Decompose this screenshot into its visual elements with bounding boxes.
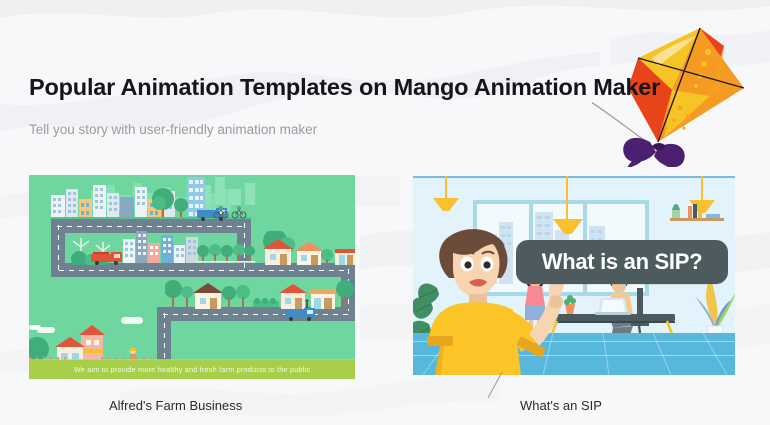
blue-truck — [285, 307, 317, 321]
house-row-middle — [261, 231, 355, 265]
thumbnail-banner-text: We aim to provide more healthy and fresh… — [29, 360, 355, 379]
page-subtitle: Tell you story with user-friendly animat… — [29, 122, 317, 137]
city-row-middle — [123, 229, 199, 263]
template-thumbnail-alfreds-farm-business[interactable]: We aim to provide more healthy and fresh… — [29, 175, 355, 379]
lamp-cord-2 — [566, 176, 568, 219]
lamp-cord-3 — [701, 176, 703, 200]
road-dash-middle — [59, 270, 347, 271]
tree-row-middle — [197, 239, 255, 265]
tree-group-top — [149, 185, 189, 219]
template-caption-whats-an-sip: What's an SIP — [520, 398, 602, 413]
template-caption-alfreds-farm-business: Alfred's Farm Business — [109, 398, 242, 413]
page-title: Popular Animation Templates on Mango Ani… — [29, 74, 660, 101]
road-dash-lower — [163, 314, 351, 315]
house-row-lower — [165, 275, 355, 309]
cyclists — [211, 203, 247, 219]
road-dash-left — [58, 225, 59, 273]
shelf-items — [668, 200, 728, 220]
office-explainer-illustration: What is an SIP? — [413, 176, 735, 375]
template-thumbnail-whats-an-sip[interactable]: What is an SIP? — [413, 176, 735, 375]
red-truck — [91, 251, 125, 265]
caption-pointer-line — [480, 372, 510, 400]
farm-town-illustration: We aim to provide more healthy and fresh… — [29, 175, 355, 379]
lamp-shade-1 — [433, 198, 459, 211]
slide-canvas: Popular Animation Templates on Mango Ani… — [0, 0, 770, 425]
road-dash-top — [57, 226, 243, 227]
ceiling-line — [413, 176, 735, 178]
lamp-cord-1 — [445, 176, 447, 198]
speech-bubble: What is an SIP? — [516, 240, 728, 284]
